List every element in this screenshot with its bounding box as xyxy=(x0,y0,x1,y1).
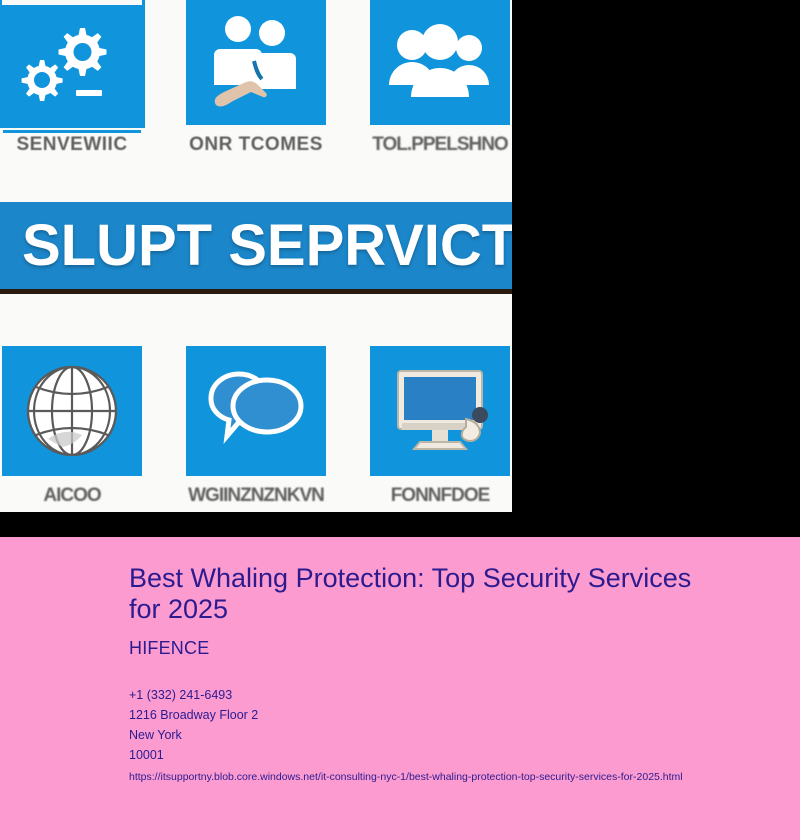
service-tile-label: TOL.PPELSHNO xyxy=(372,134,507,156)
hero-banner-text: SLUPT SEPRVICT xyxy=(22,212,512,279)
contact-city: New York xyxy=(129,725,800,745)
contact-block: +1 (332) 241-6493 1216 Broadway Floor 2 … xyxy=(129,685,800,765)
contact-phone: +1 (332) 241-6493 xyxy=(129,685,800,705)
speech-bubbles-icon-art xyxy=(201,362,311,460)
service-tile-people: TOL.PPELSHNO xyxy=(360,0,512,156)
handshake-people-icon xyxy=(186,0,326,125)
hero-banner: SLUPT SEPRVICT xyxy=(0,202,512,294)
service-tile-handshake: ONR TCOMES xyxy=(176,0,336,156)
speech-bubbles-icon xyxy=(186,346,326,476)
group-of-people-icon xyxy=(370,0,510,125)
service-tile-globe: AICOO xyxy=(0,346,152,507)
gears-monitor-icon-art xyxy=(18,22,126,108)
service-tile-monitor: FONNFDOE xyxy=(360,346,512,507)
caption-panel-inner: Best Whaling Protection: Top Security Se… xyxy=(0,537,800,785)
hero-canvas: SENVEWIIC xyxy=(0,0,512,512)
brand-name: HIFENCE xyxy=(129,638,800,659)
contact-postal-code: 10001 xyxy=(129,745,800,765)
desktop-monitor-icon xyxy=(370,346,510,476)
globe-icon-art xyxy=(20,359,124,463)
group-of-people-icon-art xyxy=(385,21,495,105)
service-tile-row-bottom: AICOO WGIINZNZNKVN xyxy=(0,346,512,507)
handshake-people-icon-art xyxy=(202,13,310,113)
page-root: SENVEWIIC xyxy=(0,0,800,840)
caption-panel: Best Whaling Protection: Top Security Se… xyxy=(0,537,800,840)
service-tile-label: WGIINZNZNKVN xyxy=(188,485,324,507)
service-tile-label: AICOO xyxy=(43,485,100,507)
page-title: Best Whaling Protection: Top Security Se… xyxy=(129,563,709,625)
gears-monitor-icon xyxy=(2,0,142,125)
service-tile-gears: SENVEWIIC xyxy=(0,0,152,156)
desktop-monitor-icon-art xyxy=(384,361,496,461)
source-url[interactable]: https://itsupportny.blob.core.windows.ne… xyxy=(129,769,800,785)
service-tile-chat: WGIINZNZNKVN xyxy=(176,346,336,507)
hero-image: SENVEWIIC xyxy=(0,0,512,512)
service-tile-label: FONNFDOE xyxy=(391,485,490,507)
contact-street: 1216 Broadway Floor 2 xyxy=(129,705,800,725)
service-tile-label: SENVEWIIC xyxy=(16,134,127,156)
service-tile-label: ONR TCOMES xyxy=(189,134,323,156)
service-tile-row-top: SENVEWIIC xyxy=(0,0,512,156)
globe-icon xyxy=(2,346,142,476)
